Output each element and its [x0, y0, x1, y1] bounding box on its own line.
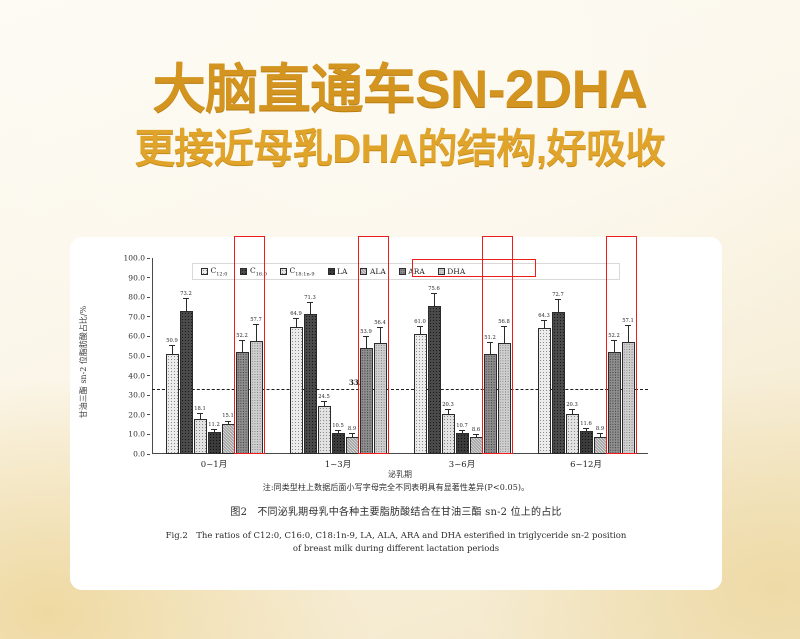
bar-slot: 64.3 — [538, 258, 551, 454]
error-bar — [256, 324, 257, 341]
y-tick-label: 40.0 — [111, 371, 145, 380]
plot-area: 0.010.020.030.040.050.060.070.080.090.01… — [152, 258, 648, 454]
y-tick-label: 70.0 — [111, 312, 145, 321]
bar-group: 64.372.720.311.68.952.257.1 — [538, 258, 635, 454]
bar-la — [580, 431, 593, 454]
bar-value-label: 53.9 — [360, 329, 372, 335]
bar-value-label: 11.6 — [580, 421, 592, 427]
bar-value-label: 57.7 — [250, 317, 262, 323]
bar-value-label: 64.3 — [538, 313, 550, 319]
y-tick-label: 60.0 — [111, 332, 145, 341]
bar-value-label: 64.9 — [290, 311, 302, 317]
error-bar — [490, 342, 491, 353]
bar-ala — [222, 424, 235, 454]
bar-value-label: 8.6 — [472, 427, 480, 433]
bar-value-label: 72.7 — [552, 292, 564, 298]
bar-value-label: 18.1 — [194, 406, 206, 412]
bar-slot: 52.2 — [236, 258, 249, 454]
bar-slot: 20.3 — [566, 258, 579, 454]
bar-c181n-9 — [318, 406, 331, 454]
bar-value-label: 20.3 — [442, 402, 454, 408]
bar-dha — [250, 341, 263, 454]
error-bar — [628, 325, 629, 342]
bar-value-label: 75.6 — [428, 286, 440, 292]
bar-value-label: 57.1 — [622, 318, 634, 324]
bar-ala — [346, 437, 359, 454]
error-bar — [366, 336, 367, 348]
bar-slot: 8.9 — [594, 258, 607, 454]
bar-slot: 53.9 — [360, 258, 373, 454]
bar-la — [332, 433, 345, 454]
bar-ara — [236, 352, 249, 454]
bar-value-label: 52.2 — [236, 333, 248, 339]
bar-slot: 57.7 — [250, 258, 263, 454]
error-bar — [214, 429, 215, 432]
error-bar — [544, 320, 545, 328]
y-tick-label: 30.0 — [111, 391, 145, 400]
y-tick-label: 20.0 — [111, 410, 145, 419]
bar-slot: 73.2 — [180, 258, 193, 454]
error-bar — [296, 318, 297, 327]
bar-value-label: 56.4 — [374, 320, 386, 326]
error-bar — [172, 345, 173, 354]
error-bar — [434, 293, 435, 306]
error-bar — [338, 430, 339, 433]
error-bar — [462, 430, 463, 433]
bar-ara — [484, 354, 497, 454]
y-axis-line — [152, 258, 153, 454]
headline-line-1: 大脑直通车SN-2DHA — [0, 62, 800, 118]
bar-slot: 52.2 — [608, 258, 621, 454]
bar-c181n-9 — [194, 419, 207, 454]
bar-c160 — [428, 306, 441, 454]
figure-card: 甘油三酯 sn-2 位脂肪酸占比/% C12:0C16:0C18:1n-9LAA… — [70, 237, 722, 590]
bar-ala — [594, 437, 607, 454]
error-bar — [324, 401, 325, 406]
bar-group: 64.971.324.510.58.953.956.4 — [290, 258, 387, 454]
bar-c120 — [414, 334, 427, 454]
y-tick-label: 0.0 — [111, 450, 145, 459]
y-tick-label: 100.0 — [111, 254, 145, 263]
bar-value-label: 71.3 — [304, 295, 316, 301]
y-axis-ticks: 0.010.020.030.040.050.060.070.080.090.01… — [112, 258, 150, 454]
bar-slot: 20.3 — [442, 258, 455, 454]
bar-slot: 50.9 — [166, 258, 179, 454]
bar-slot: 8.6 — [470, 258, 483, 454]
error-bar — [572, 409, 573, 414]
bar-value-label: 10.7 — [456, 423, 468, 429]
error-bar — [352, 433, 353, 436]
figure-caption-cn: 图2 不同泌乳期母乳中各种主要脂肪酸结合在甘油三酯 sn-2 位上的占比 — [70, 503, 722, 518]
figure-note: 注:同类型柱上数据后面小写字母完全不同表明具有显著性差异(P<0.05)。 — [70, 482, 722, 493]
bar-group: 50.973.218.111.215.152.257.7 — [166, 258, 263, 454]
error-bar — [228, 421, 229, 425]
error-bar — [200, 413, 201, 418]
error-bar — [600, 433, 601, 436]
error-bar — [420, 326, 421, 335]
error-bar — [242, 340, 243, 352]
bar-c120 — [166, 354, 179, 454]
bar-slot: 11.6 — [580, 258, 593, 454]
bar-slot: 72.7 — [552, 258, 565, 454]
bar-c120 — [290, 327, 303, 454]
bar-dha — [374, 343, 387, 454]
bar-c181n-9 — [442, 414, 455, 454]
bar-value-label: 8.9 — [596, 426, 604, 432]
figure-caption-en-line2: of breast milk during different lactatio… — [70, 544, 722, 554]
bar-slot: 8.9 — [346, 258, 359, 454]
bar-dha — [498, 343, 511, 454]
bar-value-label: 50.9 — [166, 338, 178, 344]
bar-c181n-9 — [566, 414, 579, 454]
bar-slot: 61.0 — [414, 258, 427, 454]
error-bar — [614, 340, 615, 352]
bar-ara — [608, 352, 621, 454]
bar-value-label: 11.2 — [208, 422, 220, 428]
bar-value-label: 24.5 — [318, 394, 330, 400]
bar-slot: 24.5 — [318, 258, 331, 454]
bar-slot: 56.8 — [498, 258, 511, 454]
bar-c160 — [304, 314, 317, 454]
bar-value-label: 8.9 — [348, 426, 356, 432]
y-axis-label: 甘油三酯 sn-2 位脂肪酸占比/% — [78, 274, 92, 450]
error-bar — [504, 326, 505, 343]
error-bar — [476, 434, 477, 437]
bar-value-label: 73.2 — [180, 291, 192, 297]
bar-ala — [470, 437, 483, 454]
bar-la — [208, 432, 221, 454]
error-bar — [448, 409, 449, 414]
bar-value-label: 56.8 — [498, 319, 510, 325]
bar-slot: 18.1 — [194, 258, 207, 454]
error-bar — [586, 428, 587, 431]
bar-group: 61.075.620.310.78.651.256.8 — [414, 258, 511, 454]
bar-value-label: 20.3 — [566, 402, 578, 408]
bar-la — [456, 433, 469, 454]
y-tick-label: 80.0 — [111, 293, 145, 302]
error-bar — [558, 299, 559, 311]
bar-c160 — [180, 311, 193, 454]
bar-value-label: 51.2 — [484, 335, 496, 341]
bar-slot: 10.5 — [332, 258, 345, 454]
bar-slot: 15.1 — [222, 258, 235, 454]
bar-value-label: 10.5 — [332, 423, 344, 429]
bar-dha — [622, 342, 635, 454]
y-tick-label: 90.0 — [111, 273, 145, 282]
headline-block: 大脑直通车SN-2DHA 更接近母乳DHA的结构,好吸收 — [0, 62, 800, 171]
bar-slot: 56.4 — [374, 258, 387, 454]
headline-line-2: 更接近母乳DHA的结构,好吸收 — [0, 128, 800, 171]
bar-slot: 51.2 — [484, 258, 497, 454]
bar-value-label: 52.2 — [608, 333, 620, 339]
bar-slot: 57.1 — [622, 258, 635, 454]
bar-slot: 71.3 — [304, 258, 317, 454]
bar-c120 — [538, 328, 551, 454]
bar-slot: 11.2 — [208, 258, 221, 454]
y-tick-label: 10.0 — [111, 430, 145, 439]
bar-ara — [360, 348, 373, 454]
bar-value-label: 15.1 — [222, 413, 234, 419]
bar-slot: 64.9 — [290, 258, 303, 454]
y-tick-label: 50.0 — [111, 352, 145, 361]
bar-slot: 10.7 — [456, 258, 469, 454]
x-axis-label: 泌乳期 — [152, 469, 648, 480]
chart-area: 甘油三酯 sn-2 位脂肪酸占比/% C12:0C16:0C18:1n-9LAA… — [110, 258, 690, 478]
figure-caption-en-line1: Fig.2 The ratios of C12:0, C16:0, C18:1n… — [70, 529, 722, 541]
bar-value-label: 61.0 — [414, 319, 426, 325]
error-bar — [380, 327, 381, 343]
error-bar — [186, 298, 187, 311]
bar-slot: 75.6 — [428, 258, 441, 454]
bar-c160 — [552, 312, 565, 454]
error-bar — [310, 302, 311, 314]
